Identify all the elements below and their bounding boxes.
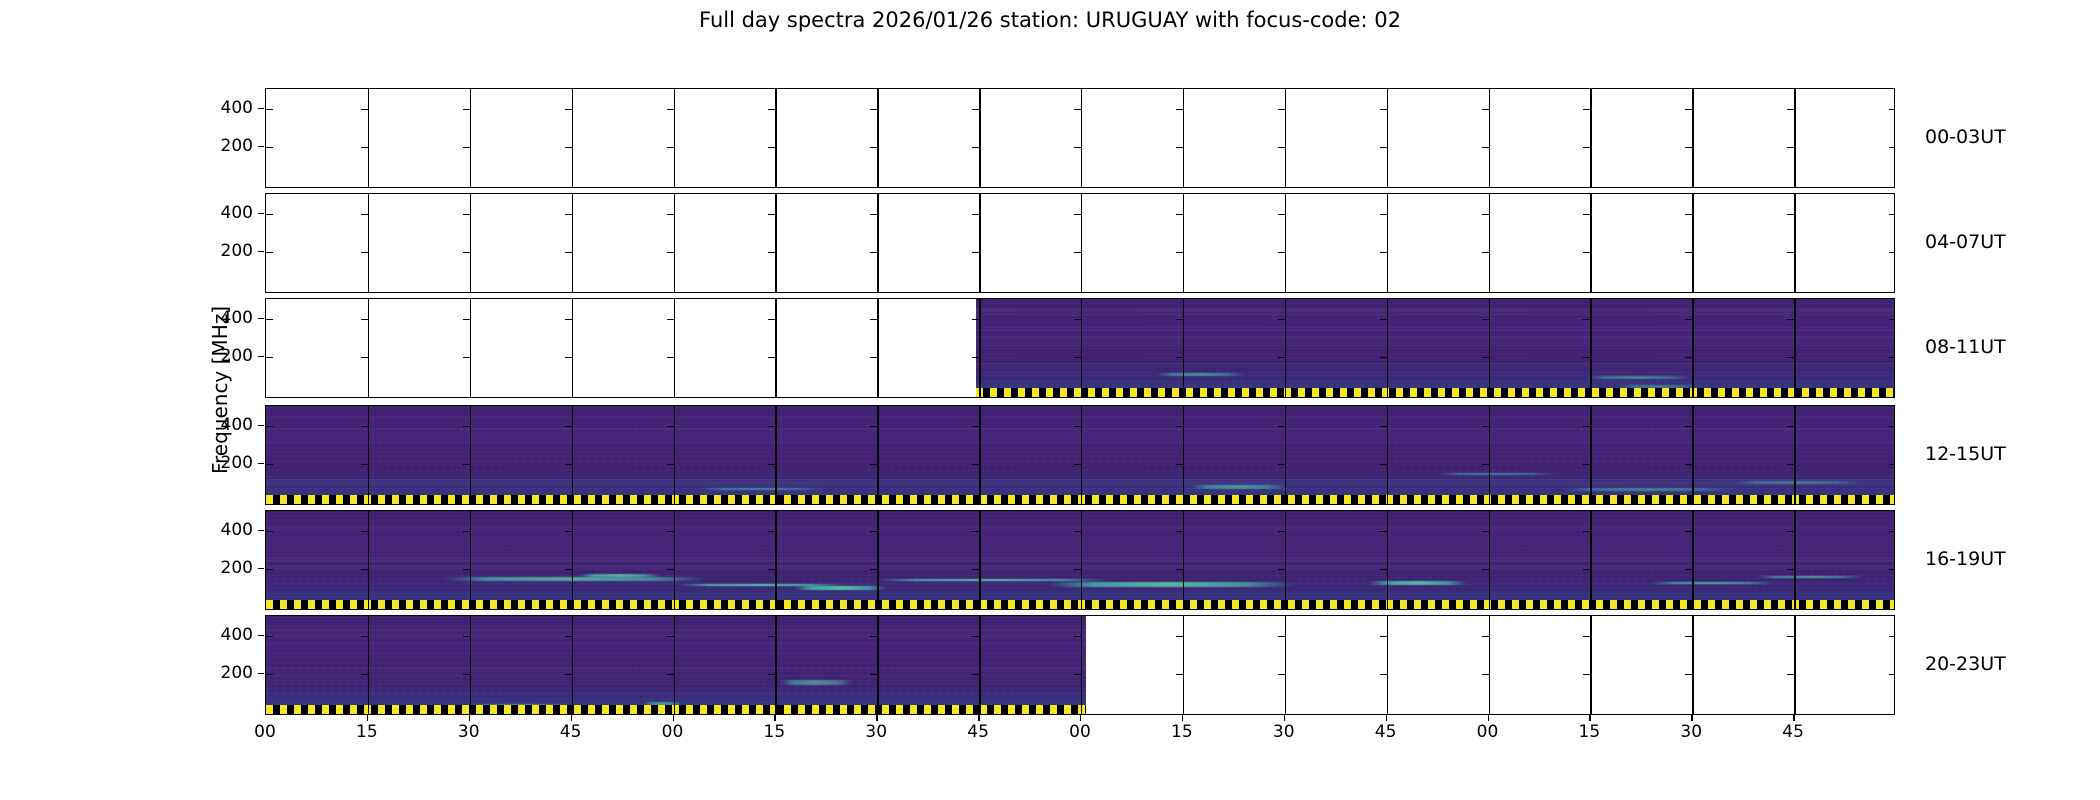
spectrogram-panel-08-11ut[interactable]: [265, 298, 1895, 398]
spectrogram-figure: Full day spectra 2026/01/26 station: URU…: [0, 0, 2100, 800]
y-tick-mark-outer: [258, 673, 264, 674]
panel-gridline: [775, 89, 776, 187]
y-tick-mark: [1685, 252, 1692, 253]
y-tick-label: 400: [193, 203, 253, 223]
y-tick-mark: [972, 569, 979, 570]
y-tick-mark: [1583, 636, 1590, 637]
panel-gridline: [1590, 406, 1591, 504]
spectrogram-faint-band: [266, 675, 1086, 677]
panel-gridline: [674, 511, 675, 609]
y-tick-mark: [1583, 319, 1590, 320]
y-tick-mark: [361, 569, 368, 570]
panel-time-range-label: 20-23UT: [1925, 653, 2006, 675]
spectrogram-faint-band: [976, 329, 1894, 331]
y-tick-mark: [565, 357, 572, 358]
panel-gridline: [572, 406, 573, 504]
y-tick-mark: [1176, 636, 1183, 637]
y-tick-mark: [1889, 674, 1894, 675]
y-tick-mark: [1787, 147, 1794, 148]
y-tick-mark: [1583, 464, 1590, 465]
y-tick-mark: [870, 426, 877, 427]
y-tick-mark: [1380, 464, 1387, 465]
y-tick-label: 200: [193, 136, 253, 156]
panel-gridline: [1387, 194, 1388, 292]
y-tick-mark: [1482, 252, 1489, 253]
y-axis-label: Frequency [MHz]: [208, 80, 238, 700]
y-tick-mark: [565, 252, 572, 253]
panel-gridline: [1183, 406, 1184, 504]
spectrogram-faint-band: [266, 636, 1086, 638]
panel-gridline: [775, 299, 776, 397]
panel-gridline: [1590, 616, 1591, 714]
panel-gridline: [979, 194, 980, 292]
y-tick-mark: [1787, 319, 1794, 320]
spectrogram-faint-band: [266, 560, 1894, 562]
y-tick-mark: [870, 319, 877, 320]
y-tick-mark: [1889, 109, 1894, 110]
y-tick-mark: [565, 674, 572, 675]
panel-gridline: [470, 299, 471, 397]
y-tick-mark: [1787, 357, 1794, 358]
y-tick-mark-outer: [258, 635, 264, 636]
y-tick-mark: [463, 569, 470, 570]
y-tick-mark: [1583, 109, 1590, 110]
spectrogram-emission-burst: [579, 574, 659, 577]
y-tick-mark: [463, 252, 470, 253]
panel-time-range-label: 00-03UT: [1925, 126, 2006, 148]
y-tick-label: 200: [193, 241, 253, 261]
spectrogram-faint-band: [266, 476, 1894, 478]
panel-time-range-label: 04-07UT: [1925, 231, 2006, 253]
figure-title: Full day spectra 2026/01/26 station: URU…: [0, 8, 2100, 32]
panel-gridline: [674, 406, 675, 504]
y-tick-mark: [1583, 147, 1590, 148]
y-tick-mark: [1074, 252, 1081, 253]
y-tick-mark: [1380, 531, 1387, 532]
panel-gridline: [1183, 511, 1184, 609]
y-tick-mark: [972, 674, 979, 675]
spectrogram-faint-band: [266, 554, 1894, 555]
spectrogram-panel-00-03ut[interactable]: [265, 88, 1895, 188]
y-tick-label: 400: [193, 520, 253, 540]
panel-gridline: [1183, 299, 1184, 397]
y-tick-mark: [361, 357, 368, 358]
y-tick-mark: [1278, 109, 1285, 110]
y-tick-label: 400: [193, 415, 253, 435]
y-tick-mark: [463, 464, 470, 465]
panel-gridline: [1489, 616, 1490, 714]
panel-gridline: [1081, 89, 1082, 187]
x-tick-label: 30: [1661, 722, 1721, 742]
x-tick-label: 00: [235, 722, 295, 742]
panel-gridline: [1387, 511, 1388, 609]
panel-gridline: [1590, 194, 1591, 292]
panel-gridline: [674, 616, 675, 714]
panel-gridline: [1081, 511, 1082, 609]
y-tick-mark-outer: [258, 568, 264, 569]
panel-gridline: [1285, 406, 1286, 504]
spectrogram-faint-band: [266, 667, 1086, 670]
y-tick-mark: [768, 426, 775, 427]
y-tick-mark: [667, 464, 674, 465]
y-tick-mark: [463, 674, 470, 675]
y-tick-mark: [266, 252, 273, 253]
x-tick-label: 45: [541, 722, 601, 742]
panel-gridline: [1285, 299, 1286, 397]
x-tick-label: 00: [1050, 722, 1110, 742]
panel-gridline: [1081, 616, 1082, 714]
y-tick-mark: [1380, 214, 1387, 215]
spectrogram-faint-band: [266, 428, 1894, 431]
y-tick-mark: [1685, 674, 1692, 675]
y-tick-mark: [1889, 357, 1894, 358]
x-tick-mark: [1284, 715, 1285, 721]
y-tick-mark: [1889, 214, 1894, 215]
y-tick-mark: [1787, 109, 1794, 110]
y-tick-mark: [768, 252, 775, 253]
panel-gridline: [1692, 299, 1693, 397]
y-tick-label: 200: [193, 663, 253, 683]
y-tick-mark: [870, 252, 877, 253]
y-tick-label: 400: [193, 308, 253, 328]
x-tick-mark: [673, 715, 674, 721]
y-tick-mark: [361, 636, 368, 637]
panel-gridline: [1692, 89, 1693, 187]
spectrogram-data-block: [266, 511, 1894, 609]
panel-gridline: [674, 194, 675, 292]
x-tick-label: 30: [846, 722, 906, 742]
x-tick-label: 15: [1152, 722, 1212, 742]
y-tick-mark: [972, 464, 979, 465]
y-tick-mark: [1176, 531, 1183, 532]
x-tick-label: 15: [1559, 722, 1619, 742]
spectrogram-emission-burst: [1190, 485, 1287, 489]
x-tick-label: 15: [337, 722, 397, 742]
y-tick-mark: [565, 569, 572, 570]
y-tick-label: 400: [193, 625, 253, 645]
panel-gridline: [1285, 616, 1286, 714]
y-tick-mark: [972, 357, 979, 358]
y-tick-mark: [266, 319, 273, 320]
y-tick-mark: [266, 109, 273, 110]
panel-gridline: [674, 89, 675, 187]
y-tick-mark: [870, 147, 877, 148]
x-tick-label: 30: [439, 722, 499, 742]
panel-gridline: [1285, 511, 1286, 609]
y-tick-label: 200: [193, 346, 253, 366]
low-frequency-dashed-strip: [976, 388, 1894, 397]
y-tick-mark: [667, 147, 674, 148]
y-tick-mark: [1583, 214, 1590, 215]
y-tick-mark: [1889, 426, 1894, 427]
panel-gridline: [1081, 194, 1082, 292]
panel-gridline: [877, 616, 878, 714]
x-tick-label: 00: [1458, 722, 1518, 742]
x-tick-label: 45: [1356, 722, 1416, 742]
panel-gridline: [470, 89, 471, 187]
panel-gridline: [1489, 511, 1490, 609]
x-tick-mark: [1386, 715, 1387, 721]
y-tick-mark: [266, 674, 273, 675]
y-tick-mark: [565, 464, 572, 465]
y-tick-mark: [1278, 636, 1285, 637]
y-tick-mark-outer: [258, 356, 264, 357]
y-tick-mark: [1074, 319, 1081, 320]
y-tick-mark: [870, 569, 877, 570]
y-tick-mark: [972, 426, 979, 427]
panel-gridline: [1794, 511, 1795, 609]
spectrogram-emission-burst: [780, 680, 853, 684]
y-tick-mark: [463, 109, 470, 110]
panel-gridline: [674, 299, 675, 397]
panel-gridline: [1387, 406, 1388, 504]
y-tick-mark: [1787, 214, 1794, 215]
y-tick-mark: [768, 569, 775, 570]
y-tick-mark: [1482, 426, 1489, 427]
y-tick-mark: [1583, 357, 1590, 358]
x-tick-mark: [469, 715, 470, 721]
y-tick-mark: [1685, 426, 1692, 427]
y-tick-mark: [361, 109, 368, 110]
y-tick-mark: [266, 214, 273, 215]
y-tick-mark: [565, 319, 572, 320]
panel-gridline: [572, 616, 573, 714]
panel-gridline: [979, 511, 980, 609]
y-tick-mark: [667, 357, 674, 358]
spectrogram-panel-20-23ut[interactable]: [265, 615, 1895, 715]
panel-plot-area: [266, 89, 1894, 187]
panel-plot-area: [266, 194, 1894, 292]
panel-gridline: [572, 299, 573, 397]
panel-gridline: [572, 511, 573, 609]
y-tick-mark: [1583, 674, 1590, 675]
y-tick-mark: [972, 636, 979, 637]
y-tick-mark: [768, 464, 775, 465]
y-tick-mark: [768, 214, 775, 215]
spectrogram-emission-burst: [875, 579, 1109, 581]
spectrogram-faint-band: [266, 565, 1894, 567]
y-tick-mark: [1889, 319, 1894, 320]
spectrogram-faint-band: [976, 341, 1894, 345]
panel-gridline: [1489, 406, 1490, 504]
y-tick-mark: [870, 214, 877, 215]
y-tick-mark: [1074, 636, 1081, 637]
spectrogram-faint-band: [976, 336, 1894, 339]
spectrogram-emission-burst: [1369, 581, 1467, 585]
y-tick-mark: [1380, 569, 1387, 570]
panel-gridline: [877, 406, 878, 504]
y-tick-mark: [266, 569, 273, 570]
y-tick-mark: [1685, 636, 1692, 637]
spectrogram-data-block: [976, 299, 1894, 397]
y-tick-mark: [1583, 569, 1590, 570]
y-tick-mark: [667, 252, 674, 253]
y-tick-mark: [1176, 464, 1183, 465]
y-tick-mark: [361, 674, 368, 675]
y-tick-mark: [1380, 674, 1387, 675]
panel-gridline: [1387, 616, 1388, 714]
panel-gridline: [775, 616, 776, 714]
y-tick-mark: [1889, 569, 1894, 570]
y-tick-mark: [768, 531, 775, 532]
y-tick-mark: [1278, 214, 1285, 215]
y-tick-mark: [1685, 464, 1692, 465]
spectrogram-faint-band: [976, 366, 1894, 367]
panel-gridline: [979, 406, 980, 504]
y-tick-mark: [1482, 147, 1489, 148]
spectrogram-emission-burst: [1050, 582, 1294, 586]
panel-gridline: [1590, 299, 1591, 397]
y-tick-mark: [565, 214, 572, 215]
y-tick-mark: [1787, 569, 1794, 570]
panel-gridline: [572, 89, 573, 187]
y-tick-mark: [565, 636, 572, 637]
spectrogram-emission-burst: [1586, 376, 1691, 380]
y-tick-mark: [1889, 147, 1894, 148]
x-tick-mark: [1080, 715, 1081, 721]
y-tick-mark-outer: [258, 463, 264, 464]
y-tick-mark: [1787, 674, 1794, 675]
y-tick-mark: [1482, 531, 1489, 532]
y-tick-mark: [1583, 252, 1590, 253]
y-tick-mark: [870, 464, 877, 465]
panel-gridline: [1387, 299, 1388, 397]
panel-gridline: [1794, 406, 1795, 504]
spectrogram-emission-burst: [1563, 488, 1735, 491]
panel-gridline: [1081, 299, 1082, 397]
y-tick-mark: [1482, 464, 1489, 465]
y-tick-mark: [1074, 147, 1081, 148]
x-tick-label: 45: [1763, 722, 1823, 742]
spectrogram-emission-burst: [1757, 576, 1863, 578]
y-tick-mark: [1380, 109, 1387, 110]
y-tick-mark: [1176, 569, 1183, 570]
spectrogram-faint-band: [266, 441, 1894, 443]
x-tick-mark: [774, 715, 775, 721]
spectrogram-emission-burst: [1651, 582, 1774, 584]
y-tick-mark: [1583, 531, 1590, 532]
x-tick-label: 15: [744, 722, 804, 742]
panel-plot-area: [266, 616, 1894, 714]
y-tick-label: 400: [193, 98, 253, 118]
panel-time-range-label: 12-15UT: [1925, 443, 2006, 465]
x-tick-mark: [978, 715, 979, 721]
y-tick-mark: [266, 531, 273, 532]
panel-gridline: [368, 299, 369, 397]
panel-gridline: [979, 299, 980, 397]
y-tick-mark-outer: [258, 530, 264, 531]
spectrogram-panel-16-19ut[interactable]: [265, 510, 1895, 610]
panel-gridline: [1183, 89, 1184, 187]
y-tick-mark: [1074, 109, 1081, 110]
y-tick-mark: [361, 252, 368, 253]
y-tick-mark: [1278, 674, 1285, 675]
y-tick-mark: [870, 674, 877, 675]
y-tick-mark: [1787, 636, 1794, 637]
spectrogram-faint-band: [266, 417, 1894, 419]
y-tick-mark: [1278, 319, 1285, 320]
panel-gridline: [368, 194, 369, 292]
y-tick-mark: [667, 636, 674, 637]
x-tick-mark: [1589, 715, 1590, 721]
y-tick-mark: [667, 109, 674, 110]
panel-gridline: [775, 511, 776, 609]
spectrogram-panel-12-15ut[interactable]: [265, 405, 1895, 505]
y-tick-mark: [463, 531, 470, 532]
spectrogram-faint-band: [266, 629, 1086, 631]
spectrogram-faint-band: [266, 479, 1894, 483]
panel-gridline: [368, 89, 369, 187]
y-tick-mark: [1482, 109, 1489, 110]
panel-plot-area: [266, 511, 1894, 609]
panel-gridline: [877, 511, 878, 609]
y-tick-mark: [1176, 426, 1183, 427]
y-tick-mark: [361, 426, 368, 427]
x-tick-label: 00: [643, 722, 703, 742]
y-tick-mark: [1685, 569, 1692, 570]
y-tick-mark: [1380, 357, 1387, 358]
y-tick-mark: [1074, 214, 1081, 215]
spectrogram-emission-burst: [1734, 481, 1863, 484]
x-tick-mark: [1182, 715, 1183, 721]
panel-time-range-label: 08-11UT: [1925, 336, 2006, 358]
y-tick-mark: [1278, 357, 1285, 358]
y-tick-mark: [1482, 357, 1489, 358]
y-tick-mark: [1889, 636, 1894, 637]
spectrogram-faint-band: [976, 308, 1894, 312]
y-tick-mark: [667, 214, 674, 215]
y-tick-mark: [1074, 569, 1081, 570]
y-tick-mark: [972, 109, 979, 110]
y-tick-mark: [1380, 319, 1387, 320]
y-tick-label: 200: [193, 558, 253, 578]
y-tick-mark: [870, 531, 877, 532]
panel-plot-area: [266, 299, 1894, 397]
spectrogram-data-block: [266, 616, 1086, 714]
spectrogram-emission-burst: [699, 488, 824, 490]
y-tick-mark: [361, 147, 368, 148]
y-tick-mark: [1787, 426, 1794, 427]
y-tick-mark: [1380, 426, 1387, 427]
y-tick-mark: [1176, 214, 1183, 215]
y-tick-mark: [1583, 426, 1590, 427]
y-tick-mark: [667, 569, 674, 570]
y-tick-mark: [1889, 252, 1894, 253]
y-tick-mark: [1074, 464, 1081, 465]
panel-gridline: [1081, 406, 1082, 504]
panel-gridline: [1489, 89, 1490, 187]
panel-gridline: [979, 89, 980, 187]
panel-gridline: [877, 89, 878, 187]
y-tick-mark: [463, 319, 470, 320]
y-tick-mark: [972, 531, 979, 532]
y-tick-mark: [1278, 426, 1285, 427]
y-tick-mark: [768, 147, 775, 148]
y-tick-mark: [1380, 252, 1387, 253]
panel-gridline: [1183, 616, 1184, 714]
y-tick-mark: [1278, 252, 1285, 253]
x-tick-mark: [1793, 715, 1794, 721]
y-tick-mark: [768, 636, 775, 637]
panel-time-range-label: 16-19UT: [1925, 548, 2006, 570]
y-tick-mark: [1482, 319, 1489, 320]
y-tick-mark: [463, 636, 470, 637]
spectrogram-faint-band: [266, 526, 1894, 529]
panel-gridline: [1489, 194, 1490, 292]
spectrogram-panel-04-07ut[interactable]: [265, 193, 1895, 293]
y-tick-mark: [565, 531, 572, 532]
y-tick-mark: [1176, 252, 1183, 253]
